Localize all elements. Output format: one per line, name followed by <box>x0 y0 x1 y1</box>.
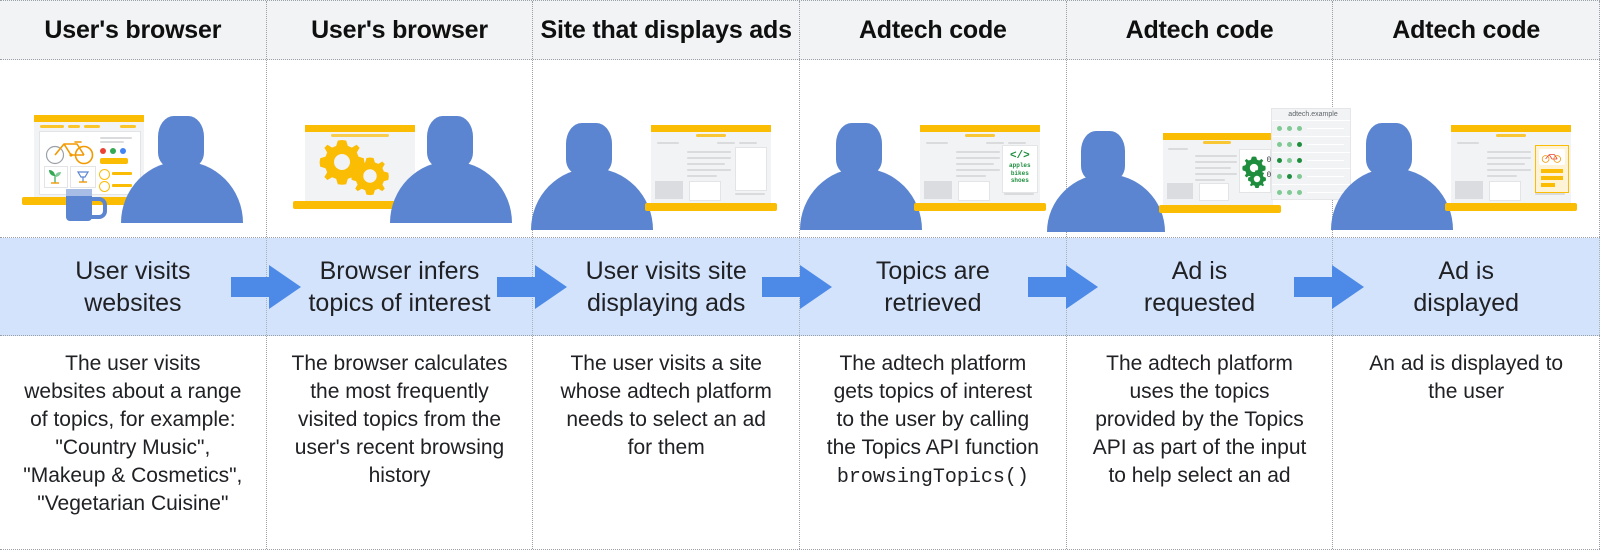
step-label-4: Ad is requested <box>1067 238 1334 335</box>
step-line: Browser infers <box>308 255 490 287</box>
step-line: User visits <box>75 255 190 287</box>
description-text: The adtech platform gets topics of inter… <box>827 352 1039 459</box>
step-line: websites <box>75 287 190 319</box>
step-label-1: Browser infers topics of interest <box>267 238 534 335</box>
lamp-thumbnail-icon <box>74 168 92 184</box>
illustration-ad-requested: 0110 0111 adtech.example <box>1075 103 1325 233</box>
illustration-cell-4: 0110 0111 adtech.example <box>1067 60 1334 237</box>
description-cell-2: The user visits a site whose adtech plat… <box>533 336 800 549</box>
empty-ad-slot <box>735 147 767 191</box>
illustration-browser-infers-topics <box>275 103 525 233</box>
column-header-5: Adtech code <box>1333 1 1600 59</box>
step-label-row: User visits websites Browser infers topi… <box>0 238 1600 336</box>
column-header-1: User's browser <box>267 1 534 59</box>
illustration-person-browsing-websites <box>8 103 258 233</box>
illustration-cell-5 <box>1333 60 1600 237</box>
step-line: displayed <box>1413 287 1519 319</box>
step-label-2: User visits site displaying ads <box>533 238 800 335</box>
column-header-0: User's browser <box>0 1 267 59</box>
plant-thumbnail-icon <box>46 168 64 184</box>
illustration-topics-retrieved: </> apples bikes shoes <box>808 103 1058 233</box>
gear-icon-small <box>349 155 391 197</box>
illustration-ad-displayed <box>1341 103 1591 233</box>
description-cell-4: The adtech platform uses the topics prov… <box>1067 336 1334 549</box>
column-header-3: Adtech code <box>800 1 1067 59</box>
illustration-cell-2 <box>533 60 800 237</box>
illustration-user-visits-site <box>541 103 791 233</box>
step-line: requested <box>1144 287 1255 319</box>
displayed-ad <box>1535 145 1569 193</box>
step-line: Topics are <box>876 255 990 287</box>
topics-api-flow-diagram: User's browser User's browser Site that … <box>0 0 1600 550</box>
description-code: browsingTopics() <box>837 466 1029 489</box>
illustration-cell-1 <box>267 60 534 237</box>
description-cell-1: The browser calculates the most frequent… <box>267 336 534 549</box>
code-term-1: bikes <box>1011 170 1029 178</box>
description-cell-0: The user visits websites about a range o… <box>0 336 267 549</box>
description-cell-5: An ad is displayed to the user <box>1333 336 1600 549</box>
step-line: Ad is <box>1413 255 1519 287</box>
step-label-0: User visits websites <box>0 238 267 335</box>
column-header-2: Site that displays ads <box>533 1 800 59</box>
illustration-row: </> apples bikes shoes <box>0 60 1600 238</box>
step-line: User visits site <box>586 255 747 287</box>
code-term-2: shoes <box>1011 177 1029 185</box>
description-row: The user visits websites about a range o… <box>0 336 1600 550</box>
description-text: An ad is displayed to the user <box>1355 350 1577 406</box>
step-label-3: Topics are retrieved <box>800 238 1067 335</box>
illustration-cell-0 <box>0 60 267 237</box>
description-text: The user visits a site whose adtech plat… <box>555 350 777 462</box>
bicycle-icon <box>44 135 98 165</box>
description-cell-3: The adtech platform gets topics of inter… <box>800 336 1067 549</box>
gear-icon-green-small <box>1247 169 1267 189</box>
description-text: The browser calculates the most frequent… <box>289 350 511 490</box>
illustration-cell-3: </> apples bikes shoes <box>800 60 1067 237</box>
step-line: topics of interest <box>308 287 490 319</box>
header-row: User's browser User's browser Site that … <box>0 0 1600 60</box>
step-line: Ad is <box>1144 255 1255 287</box>
step-line: displaying ads <box>586 287 747 319</box>
column-header-4: Adtech code <box>1067 1 1334 59</box>
step-line: retrieved <box>876 287 990 319</box>
description-text: The adtech platform uses the topics prov… <box>1089 350 1311 490</box>
bicycle-ad-icon <box>1541 151 1563 163</box>
code-tag-icon: </> <box>1010 151 1030 162</box>
description-text: The user visits websites about a range o… <box>22 350 244 518</box>
code-term-0: apples <box>1009 162 1031 170</box>
step-label-5: Ad is displayed <box>1333 238 1600 335</box>
code-ad-slot: </> apples bikes shoes <box>1002 145 1038 193</box>
